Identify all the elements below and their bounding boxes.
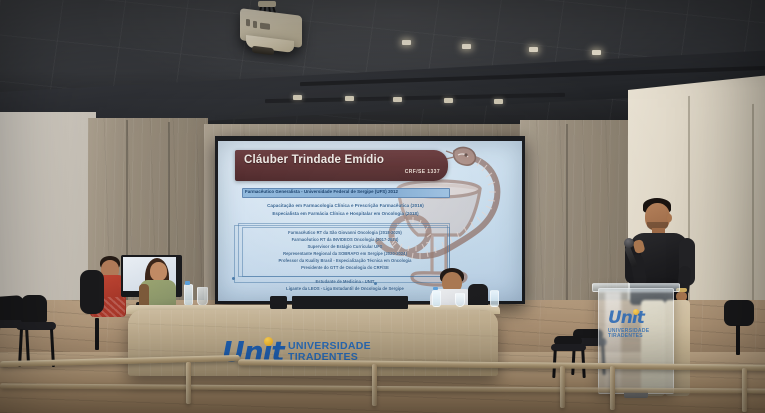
slide-highlight-text: Farmacêutico Generalista - Universidade … [245,189,398,194]
desk-monitor-rear [292,296,408,309]
projector-mount [258,1,276,7]
slide-experience-5: Presidente do GTT de Oncologia do CRF/SE [242,265,448,270]
slide-credential: CRF/SE 1337 [405,169,440,175]
handrail-post [186,362,191,404]
bottle-cap [185,281,190,285]
handrail-post [560,366,565,408]
handrail-post [610,366,615,410]
serpent-head [446,148,475,166]
textbox-handle [232,277,235,280]
slide-experience-4: Professor da Kuality Brasil - Especializ… [242,258,448,263]
water-bottle [432,290,441,307]
wall-seam [566,124,568,314]
water-bottle [184,284,193,306]
bottle-cap [433,287,438,290]
slide-title-band: Cláuber Trindade Emídio CRF/SE 1337 [235,150,448,181]
lectern-unit-logo: Unit UNIVERSIDADE TIRADENTES [608,310,649,339]
slide-experience-2: Supervisor de Estágio Curricular UFS [242,244,448,249]
ceiling-lamp [393,97,402,102]
slide-surface: Cláuber Trindade Emídio CRF/SE 1337 Farm… [218,141,522,301]
handrail-post [372,364,377,406]
slide-experience-1: Farmacêutico RT da INVIDEOS Oncologia (2… [242,237,448,242]
speaker-ear [667,214,672,222]
slide-qualification-1: Especialista em Farmácia Clínica e Hospi… [238,211,453,216]
slide-student-1: Ligante da LEOS - Liga Estudantil de Onc… [242,286,448,291]
slide-speaker-name: Cláuber Trindade Emídio [244,154,384,166]
slide-student-0: Estudante de Medicina - UNIT [242,279,448,284]
unit-logo-dot [633,309,639,315]
ceiling-lamp [444,98,453,103]
ceiling-lamp [402,40,411,45]
slide-experience-3: Representante Regional da SOBRAFO em Ser… [242,251,448,256]
water-bottle [490,290,499,307]
chair-back [21,295,47,323]
ceiling-lamp [462,44,471,49]
slide-qualification-0: Capacitação em Farmacologia Clínica e Pr… [238,203,453,208]
drinking-glass [197,287,208,306]
ceiling-lamp [345,96,354,101]
microphone-head [624,238,634,248]
ceiling-lamp [494,99,503,104]
chair-back [724,300,754,326]
handrail-post [742,368,747,412]
unit-logo-dot [264,337,273,346]
projection-screen: Cláuber Trindade Emídio CRF/SE 1337 Farm… [215,136,525,304]
unit-subtitle-line2-lectern: TIRADENTES [608,334,649,339]
ceiling-lamp [293,95,302,100]
ceiling-lamp [592,50,601,55]
drinking-glass [455,293,465,307]
desk-device [270,296,287,309]
slide-highlight-line: Farmacêutico Generalista - Universidade … [242,188,450,198]
office-chair-post [95,318,99,350]
ceiling-lamp [529,47,538,52]
chair-post [736,325,740,355]
auditorium-photo: Cláuber Trindade Emídio CRF/SE 1337 Farm… [0,0,765,413]
slide-experience-0: Farmacêutico RT da São Giovanni Oncologi… [242,230,448,235]
office-chair-back [80,270,104,314]
